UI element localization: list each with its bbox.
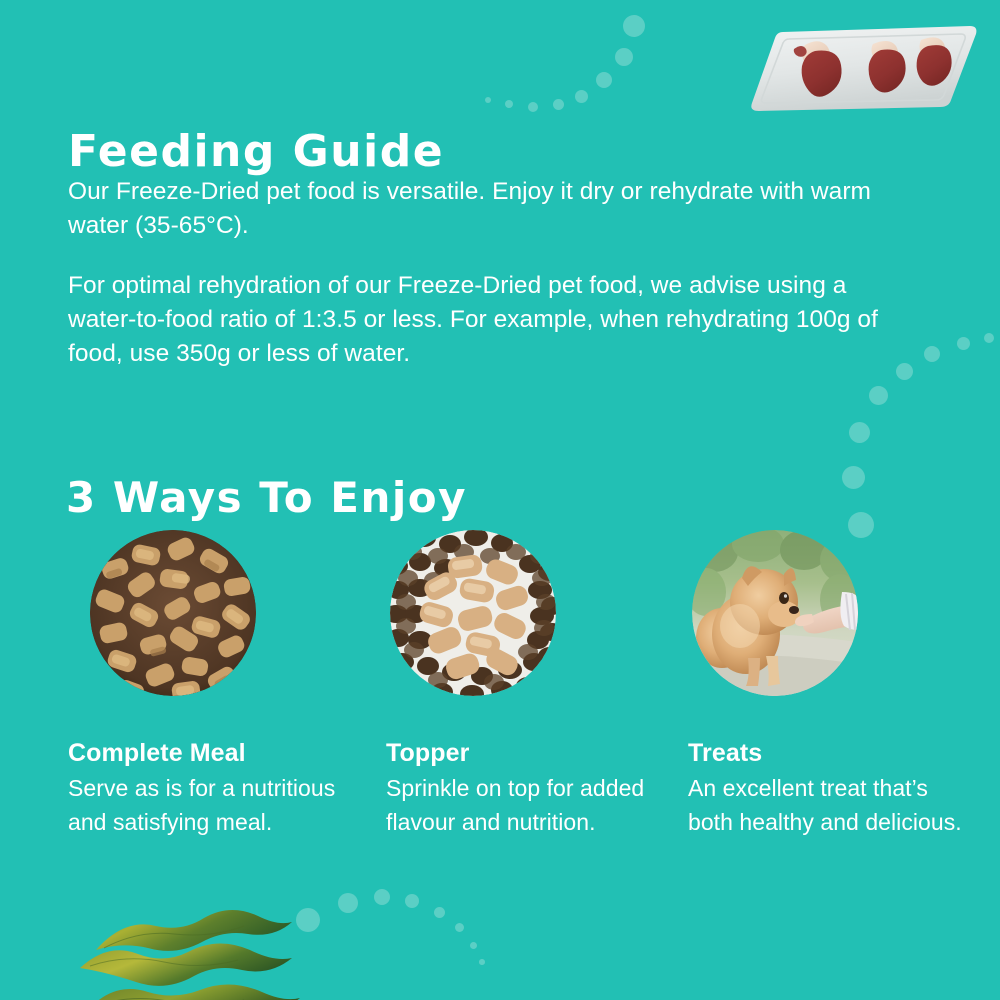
way-card-complete-meal: Complete Meal Serve as is for a nutritio…	[68, 530, 358, 839]
meat-tray-illustration	[745, 18, 980, 118]
bottom-dot-trail-dot-7	[479, 959, 485, 965]
intro-paragraph-2: For optimal rehydration of our Freeze-Dr…	[68, 269, 918, 371]
top-dot-trail-dot-3	[553, 99, 564, 110]
top-dot-trail-dot-6	[615, 48, 633, 66]
seaweed-kelp-illustration	[78, 902, 408, 1000]
kibble-with-freeze-dried-topper-photo	[390, 530, 556, 696]
right-dot-trail-dot-2	[924, 346, 940, 362]
way-card-topper: Topper Sprinkle on top for added flavour…	[386, 530, 676, 839]
top-dot-trail-dot-4	[575, 90, 588, 103]
top-dot-trail-dot-5	[596, 72, 612, 88]
top-dot-trail-dot-0	[485, 97, 491, 103]
right-dot-trail-dot-4	[869, 386, 888, 405]
ways-section-title: 3 Ways To Enjoy	[66, 477, 467, 519]
bottom-dot-trail-dot-5	[455, 923, 464, 932]
right-dot-trail-dot-1	[957, 337, 970, 350]
way-title: Complete Meal	[68, 738, 358, 768]
right-dot-trail-dot-0	[984, 333, 994, 343]
intro-paragraphs: Our Freeze-Dried pet food is versatile. …	[68, 175, 918, 371]
right-dot-trail-dot-6	[842, 466, 865, 489]
way-description: An excellent treat that’s both healthy a…	[688, 771, 978, 839]
top-dot-trail-dot-1	[505, 100, 513, 108]
way-description: Sprinkle on top for added flavour and nu…	[386, 771, 676, 839]
top-dot-trail-dot-7	[623, 15, 645, 37]
bowl-of-freeze-dried-pellets-photo	[90, 530, 256, 696]
ways-to-enjoy-list: Complete Meal Serve as is for a nutritio…	[0, 530, 1000, 890]
way-description: Serve as is for a nutritious and satisfy…	[68, 771, 358, 839]
intro-paragraph-1: Our Freeze-Dried pet food is versatile. …	[68, 175, 918, 243]
bottom-dot-trail-dot-6	[470, 942, 477, 949]
feeding-guide-page: Feeding Guide Our Freeze-Dried pet food …	[0, 0, 1000, 1000]
way-title: Treats	[688, 738, 978, 768]
page-title: Feeding Guide	[68, 130, 444, 174]
way-card-treats: Treats An excellent treat that’s both he…	[688, 530, 978, 839]
bottom-dot-trail-dot-4	[434, 907, 445, 918]
right-dot-trail-dot-5	[849, 422, 870, 443]
pomeranian-dog-taking-treat-photo	[692, 530, 858, 696]
top-dot-trail-dot-2	[528, 102, 538, 112]
way-title: Topper	[386, 738, 676, 768]
